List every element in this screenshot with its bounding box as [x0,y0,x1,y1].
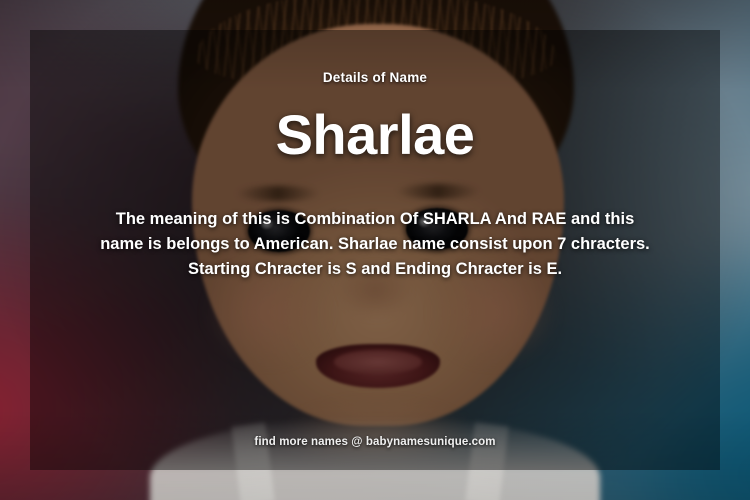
page-title: Sharlae [276,107,475,163]
name-details-card: Details of Name Sharlae The meaning of t… [0,0,750,500]
footer-attribution: find more names @ babynamesunique.com [30,436,720,448]
name-meaning-text: The meaning of this is Combination Of SH… [95,207,655,282]
card-kicker: Details of Name [323,70,427,85]
card-content: Details of Name Sharlae The meaning of t… [30,30,720,470]
